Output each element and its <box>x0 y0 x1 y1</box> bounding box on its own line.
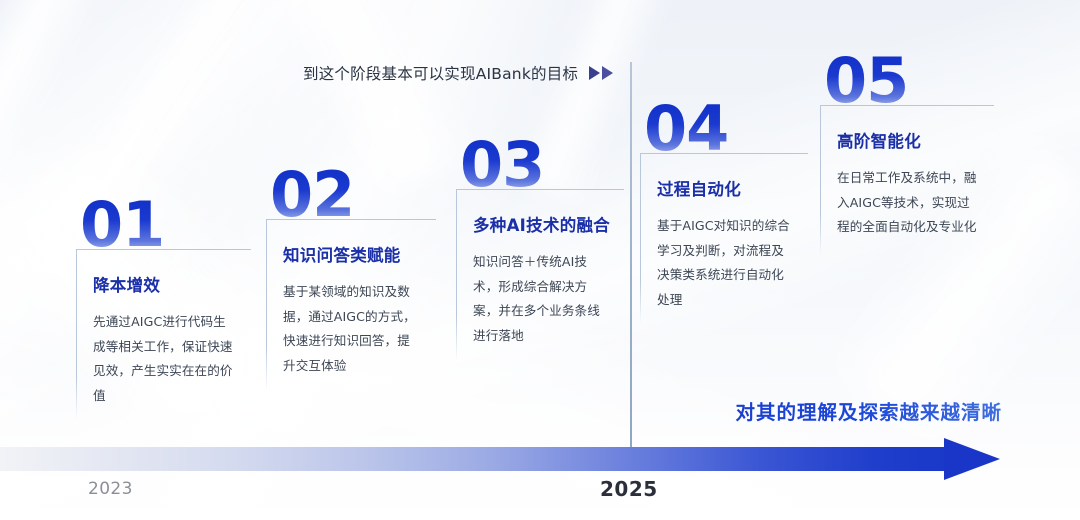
stage-title: 过程自动化 <box>657 176 794 200</box>
stage-card: 知识问答类赋能 基于某领域的知识及数据，通过AIGC的方式，快速进行知识回答，提… <box>266 219 436 388</box>
stage-description: 在日常工作及系统中，融入AIGC等技术，实现过程的全面自动化及专业化 <box>837 166 980 240</box>
stage-description: 基于AIGC对知识的综合学习及判断，对流程及决策类系统进行自动化处理 <box>657 214 794 312</box>
stage-card: 多种AI技术的融合 知识问答＋传统AI技术，形成综合解决方案，并在多个业务条线进… <box>456 189 624 358</box>
year-label-milestone: 2025 <box>600 477 658 501</box>
stage-number: 05 <box>824 52 994 109</box>
stage-description: 先通过AIGC进行代码生成等相关工作，保证快速见效，产生实实在在的价值 <box>93 310 237 408</box>
stage-column-1: 01 降本增效 先通过AIGC进行代码生成等相关工作，保证快速见效，产生实实在在… <box>76 196 251 418</box>
stage-column-2: 02 知识问答类赋能 基于某领域的知识及数据，通过AIGC的方式，快速进行知识回… <box>266 166 436 388</box>
stage-title: 知识问答类赋能 <box>283 242 422 266</box>
stage-number: 01 <box>80 196 251 253</box>
stage-number: 03 <box>460 136 624 193</box>
stage-title: 多种AI技术的融合 <box>473 212 610 236</box>
right-arrow-icon <box>944 438 1000 480</box>
headline-text: 对其的理解及探索越来越清晰 <box>735 396 1002 425</box>
stage-description: 基于某领域的知识及数据，通过AIGC的方式，快速进行知识回答，提升交互体验 <box>283 280 422 378</box>
stage-description: 知识问答＋传统AI技术，形成综合解决方案，并在多个业务条线进行落地 <box>473 250 610 348</box>
double-right-arrow-icon <box>589 66 613 80</box>
stage-title: 降本增效 <box>93 272 237 296</box>
timeline-infographic: 到这个阶段基本可以实现AIBank的目标 01 降本增效 先通过AIGC进行代码… <box>0 0 1080 520</box>
annotation-text: 到这个阶段基本可以实现AIBank的目标 <box>303 62 578 84</box>
stage-card: 降本增效 先通过AIGC进行代码生成等相关工作，保证快速见效，产生实实在在的价值 <box>76 249 251 418</box>
stage-number: 02 <box>270 166 436 223</box>
milestone-marker-line <box>630 62 632 447</box>
stage-column-4: 04 过程自动化 基于AIGC对知识的综合学习及判断，对流程及决策类系统进行自动… <box>640 100 808 322</box>
stage-card: 高阶智能化 在日常工作及系统中，融入AIGC等技术，实现过程的全面自动化及专业化 <box>820 105 994 255</box>
stage-number: 04 <box>644 100 808 157</box>
timeline-bar <box>0 447 952 471</box>
stage-column-5: 05 高阶智能化 在日常工作及系统中，融入AIGC等技术，实现过程的全面自动化及… <box>820 52 994 255</box>
year-label-start: 2023 <box>88 479 133 499</box>
stage-title: 高阶智能化 <box>837 128 980 152</box>
annotation-callout: 到这个阶段基本可以实现AIBank的目标 <box>303 62 613 84</box>
stage-card: 过程自动化 基于AIGC对知识的综合学习及判断，对流程及决策类系统进行自动化处理 <box>640 153 808 322</box>
stage-column-3: 03 多种AI技术的融合 知识问答＋传统AI技术，形成综合解决方案，并在多个业务… <box>456 136 624 358</box>
timeline-arrow <box>0 441 1080 477</box>
